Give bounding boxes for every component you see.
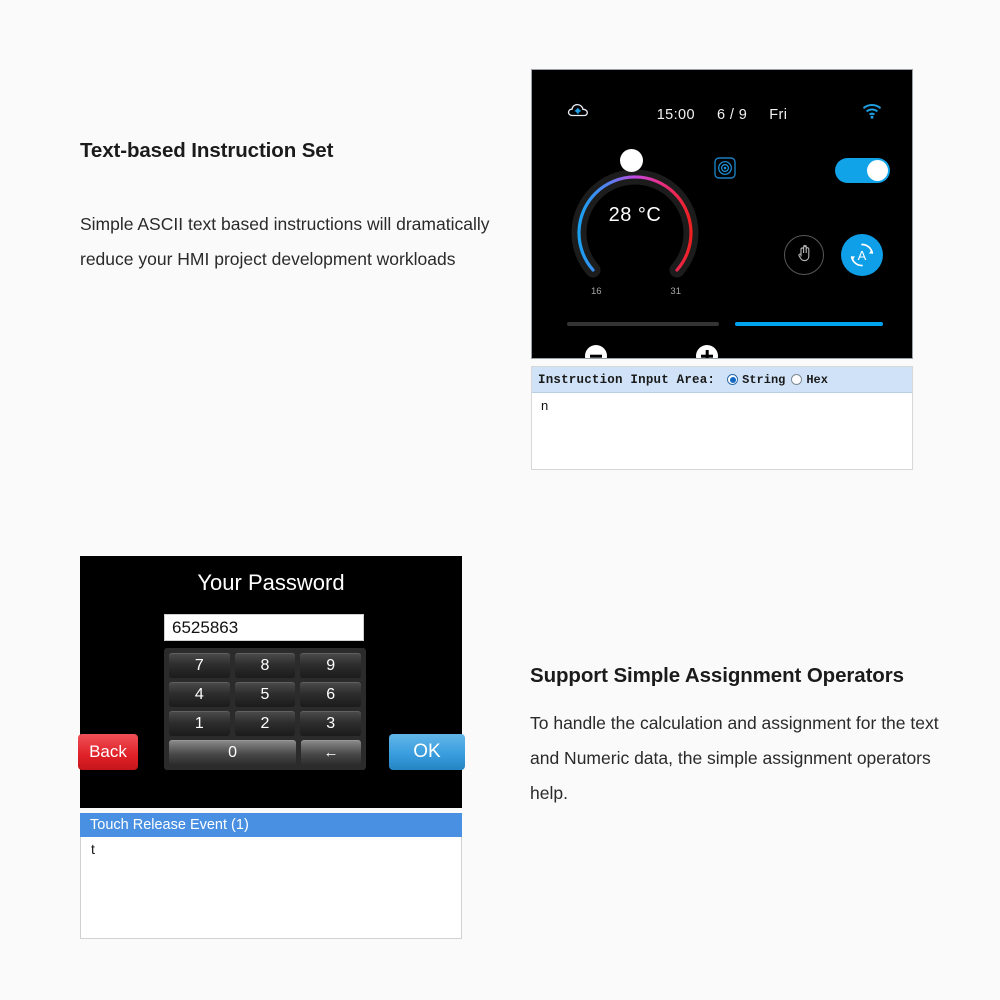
dial-knob-handle[interactable] — [620, 149, 643, 172]
password-screen-title: Your Password — [80, 570, 462, 596]
feature-title-assignment-operators: Support Simple Assignment Operators — [530, 660, 950, 692]
password-keypad-screen[interactable]: Your Password 6525863 7 8 9 4 5 6 1 2 3 … — [80, 556, 462, 808]
status-weekday: Fri — [769, 107, 787, 123]
radio-option-string[interactable]: String — [727, 373, 785, 387]
keypad-key-1[interactable]: 1 — [169, 711, 230, 736]
feature-body-instruction-set: Simple ASCII text based instructions wil… — [80, 207, 500, 277]
hmi-slider-right[interactable] — [735, 322, 883, 326]
numeric-keypad[interactable]: 7 8 9 4 5 6 1 2 3 0 ← — [164, 648, 366, 770]
hmi-datetime: 15:00 6 / 9 Fri — [532, 107, 912, 123]
instruction-input-label: Instruction Input Area: — [538, 373, 715, 387]
touch-event-header: Touch Release Event (1) — [80, 813, 462, 837]
dial-tick-min: 16 — [591, 286, 602, 297]
keypad-key-8[interactable]: 8 — [235, 653, 296, 678]
keypad-key-5[interactable]: 5 — [235, 682, 296, 707]
keypad-key-0[interactable]: 0 — [169, 740, 296, 765]
temperature-value: 28 °C — [569, 204, 701, 227]
radio-string-indicator[interactable] — [727, 374, 738, 385]
auto-mode-button[interactable]: A — [841, 234, 883, 276]
dial-tick-max: 31 — [670, 286, 681, 297]
temperature-increase-button[interactable] — [696, 345, 718, 359]
hmi-status-bar: 15:00 6 / 9 Fri — [532, 100, 912, 130]
back-button[interactable]: Back — [78, 734, 138, 770]
manual-mode-button[interactable] — [784, 235, 824, 275]
status-date: 6 / 9 — [717, 107, 747, 123]
ok-button[interactable]: OK — [389, 734, 465, 770]
instruction-format-radio-group[interactable]: String Hex — [727, 373, 828, 387]
status-time: 15:00 — [657, 107, 695, 123]
keypad-key-6[interactable]: 6 — [300, 682, 361, 707]
keypad-row: 7 8 9 — [169, 653, 361, 678]
temperature-dial[interactable]: 28 °C 16 31 — [569, 156, 701, 288]
keypad-row: 1 2 3 — [169, 711, 361, 736]
auto-mode-label: A — [858, 248, 867, 263]
fan-target-icon[interactable] — [714, 157, 736, 179]
radio-string-label: String — [742, 373, 785, 387]
wifi-icon — [862, 104, 882, 124]
instruction-input-textarea[interactable]: n — [532, 393, 912, 418]
keypad-key-2[interactable]: 2 — [235, 711, 296, 736]
feature-block-instruction-set: Text-based Instruction Set Simple ASCII … — [80, 135, 500, 277]
hmi-thermostat-screen[interactable]: 15:00 6 / 9 Fri — [531, 69, 913, 359]
dial-range-ticks: 16 31 — [591, 286, 681, 297]
keypad-key-7[interactable]: 7 — [169, 653, 230, 678]
feature-block-assignment-operators: Support Simple Assignment Operators To h… — [530, 660, 950, 811]
keypad-row: 4 5 6 — [169, 682, 361, 707]
keypad-key-9[interactable]: 9 — [300, 653, 361, 678]
temperature-decrease-button[interactable] — [585, 345, 607, 359]
radio-option-hex[interactable]: Hex — [791, 373, 828, 387]
instruction-input-header: Instruction Input Area: String Hex — [532, 367, 912, 393]
touch-event-area[interactable]: Touch Release Event (1) t — [80, 813, 462, 939]
touch-event-textarea[interactable]: t — [80, 837, 462, 939]
keypad-row: 0 ← — [169, 740, 361, 765]
feature-body-assignment-operators: To handle the calculation and assignment… — [530, 706, 950, 811]
hand-touch-icon — [794, 243, 814, 268]
toggle-knob — [867, 160, 888, 181]
radio-hex-label: Hex — [806, 373, 828, 387]
hmi-slider-left[interactable] — [567, 322, 719, 326]
keypad-key-3[interactable]: 3 — [300, 711, 361, 736]
instruction-input-area[interactable]: Instruction Input Area: String Hex n — [531, 366, 913, 470]
keypad-backspace-icon[interactable]: ← — [301, 740, 361, 765]
radio-hex-indicator[interactable] — [791, 374, 802, 385]
keypad-key-4[interactable]: 4 — [169, 682, 230, 707]
feature-title-instruction-set: Text-based Instruction Set — [80, 135, 500, 167]
password-input-field[interactable]: 6525863 — [164, 614, 364, 641]
power-toggle-switch[interactable] — [835, 158, 890, 183]
